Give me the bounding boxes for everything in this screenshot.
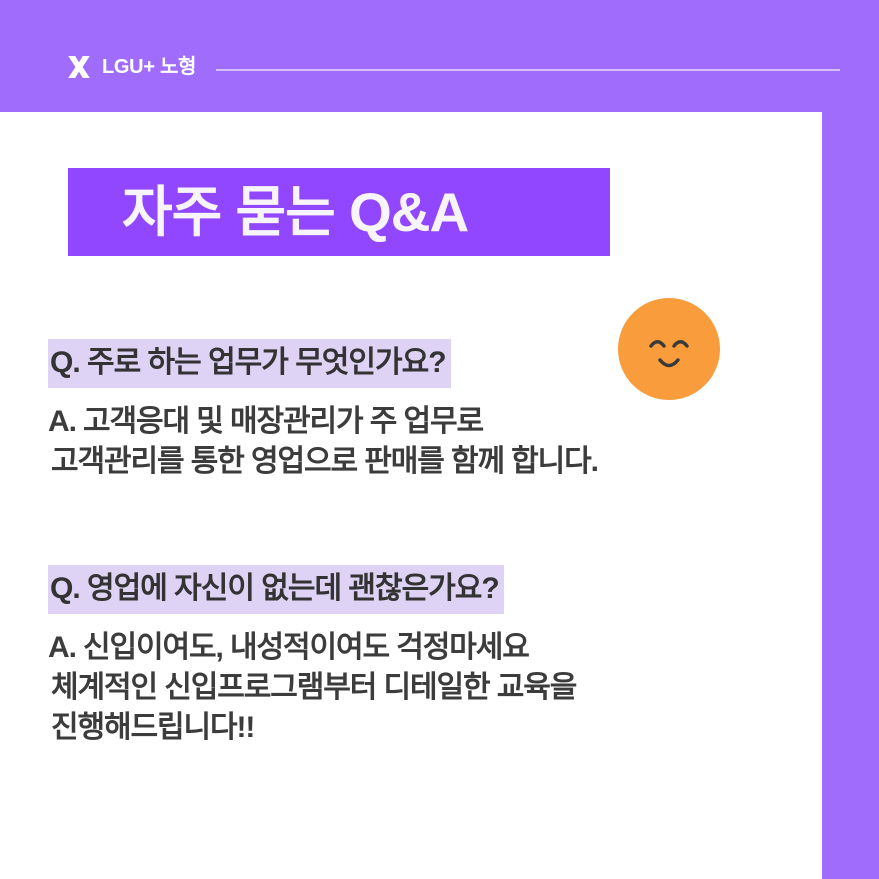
question-text-1: Q. 주로 하는 업무가 무엇인가요? — [48, 339, 451, 388]
qa-item-1: Q. 주로 하는 업무가 무엇인가요? A. 고객응대 및 매장관리가 주 업무… — [48, 339, 598, 482]
question-text-2: Q. 영업에 자신이 없는데 괜찮은가요? — [48, 565, 504, 614]
card-header: LGU+ 노형 — [0, 0, 879, 112]
brand-name: LGU+ 노형 — [102, 57, 196, 77]
answer-block-1: A. 고객응대 및 매장관리가 주 업무로 고객관리를 통한 영업으로 판매를 … — [48, 402, 598, 482]
answer-line: 진행해드립니다!! — [51, 708, 576, 748]
smiling-face-icon — [618, 298, 720, 400]
page-title-banner: 자주 묻는 Q&A — [68, 168, 610, 256]
qa-item-2: Q. 영업에 자신이 없는데 괜찮은가요? A. 신입이여도, 내성적이여도 걱… — [48, 565, 576, 748]
page-title: 자주 묻는 Q&A — [122, 185, 468, 240]
content-panel: 자주 묻는 Q&A Q. 주로 하는 업무가 무엇인가요? A. 고객응대 및 … — [0, 112, 822, 879]
brand-lockup: LGU+ 노형 — [66, 54, 196, 80]
faq-card: LGU+ 노형 자주 묻는 Q&A Q. 주로 하는 업무가 무엇인가요? A.… — [0, 0, 879, 879]
answer-line: A. 고객응대 및 매장관리가 주 업무로 — [48, 402, 598, 442]
answer-line: 체계적인 신입프로그램부터 디테일한 교육을 — [51, 668, 576, 708]
answer-line: A. 신입이여도, 내성적이여도 걱정마세요 — [48, 628, 576, 668]
header-divider — [216, 69, 840, 71]
answer-block-2: A. 신입이여도, 내성적이여도 걱정마세요 체계적인 신입프로그램부터 디테일… — [48, 628, 576, 748]
answer-line: 고객관리를 통한 영업으로 판매를 함께 합니다. — [51, 442, 598, 482]
lgu-x-logo-icon — [66, 54, 92, 80]
